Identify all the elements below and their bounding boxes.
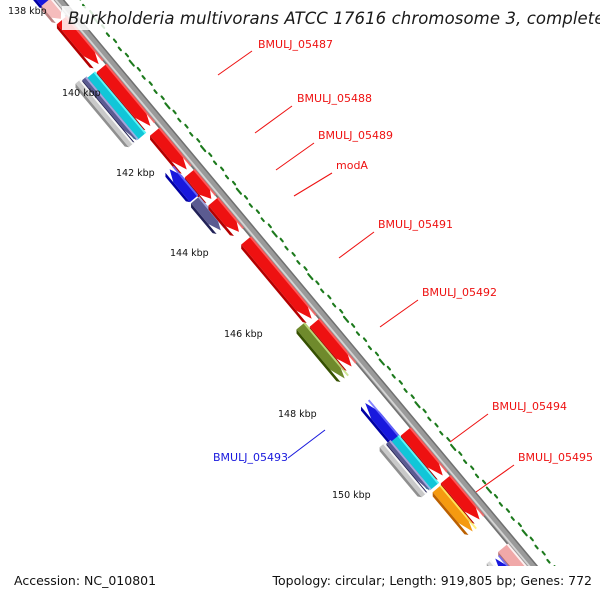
ruler-tickmark bbox=[226, 176, 228, 179]
ruler-label-148kbp: 148 kbp bbox=[278, 409, 317, 420]
ruler-tickmark bbox=[435, 424, 437, 427]
ruler-tickmark bbox=[107, 33, 109, 36]
ruler-label-138kbp: 138 kbp bbox=[8, 6, 47, 17]
ruler-tickmark bbox=[376, 353, 378, 356]
genome-map-canvas[interactable]: 138 kbp140 kbp142 kbp144 kbp146 kbp148 k… bbox=[0, 0, 600, 600]
gene-label-BMULJ_05493[interactable]: BMULJ_05493 bbox=[213, 451, 288, 464]
ruler-tickmark bbox=[404, 389, 406, 392]
ruler-tickmark bbox=[344, 317, 348, 322]
ruler-tickmark bbox=[447, 438, 449, 441]
ruler-tickmark bbox=[269, 225, 271, 228]
ruler-tickmark bbox=[83, 5, 85, 8]
status-bar: Accession: NC_010801 Topology: circular;… bbox=[0, 566, 600, 600]
ruler-tickmark bbox=[543, 552, 545, 555]
ruler-tickmark bbox=[519, 523, 521, 526]
ruler-tickmark bbox=[547, 560, 549, 563]
gene-label-BMULJ_05488[interactable]: BMULJ_05488 bbox=[297, 92, 372, 105]
leader-line-BMULJ_05494 bbox=[450, 414, 488, 442]
accession-text: Accession: NC_010801 bbox=[14, 573, 156, 588]
gene-highlight bbox=[250, 237, 316, 315]
gene-label-BMULJ_05487[interactable]: BMULJ_05487 bbox=[258, 38, 333, 51]
ruler-tickmark bbox=[471, 466, 473, 469]
ruler-tickmark bbox=[352, 324, 354, 327]
genome-stats-text: Topology: circular; Length: 919,805 bp; … bbox=[273, 573, 593, 588]
leader-line-BMULJ_05489 bbox=[276, 143, 314, 170]
ruler-tickmark bbox=[364, 338, 366, 341]
ruler-tickmark bbox=[150, 82, 152, 85]
leader-line-BMULJ_05491 bbox=[339, 232, 374, 258]
ruler-tickmark bbox=[197, 139, 199, 142]
ruler-tickmark bbox=[214, 161, 216, 164]
ruler-tickmark bbox=[185, 125, 187, 128]
ruler-tickmark bbox=[512, 517, 514, 520]
ruler-tickmark bbox=[273, 231, 277, 236]
ruler-tickmark bbox=[316, 281, 318, 284]
ruler-tickmark bbox=[90, 11, 92, 14]
ruler-label-layer: 138 kbp140 kbp142 kbp144 kbp146 kbp148 k… bbox=[8, 6, 371, 501]
ruler-tickmark bbox=[531, 538, 533, 541]
ruler-tickmark bbox=[412, 395, 414, 398]
ruler-tickmark bbox=[138, 68, 140, 71]
ruler-tickmark bbox=[102, 25, 104, 28]
ruler-tickmark bbox=[162, 96, 164, 99]
ruler-tickmark bbox=[535, 546, 537, 549]
ruler-tickmark bbox=[369, 346, 371, 349]
ruler-tickmark bbox=[143, 76, 145, 79]
ruler-tickmark bbox=[380, 360, 384, 365]
ruler-tickmark bbox=[500, 503, 502, 506]
leader-line-BMULJ_05492 bbox=[380, 300, 418, 327]
ruler-tickmark bbox=[233, 182, 235, 185]
gene-body[interactable] bbox=[241, 236, 312, 319]
ruler-tickmark bbox=[304, 267, 306, 270]
ruler-tickmark bbox=[209, 153, 211, 156]
ruler-tickmark bbox=[487, 488, 491, 493]
gene-label-modA[interactable]: modA bbox=[336, 159, 368, 172]
ruler-tickmark bbox=[130, 61, 134, 66]
leader-line-BMULJ_05493 bbox=[288, 430, 325, 458]
ruler-tickmark bbox=[483, 481, 485, 484]
ruler-tickmark bbox=[178, 119, 180, 122]
ruler-tickmark bbox=[495, 495, 497, 498]
ruler-tickmark bbox=[221, 168, 223, 171]
ruler-tickmark bbox=[464, 460, 466, 463]
ruler-tickmark bbox=[165, 103, 169, 108]
ruler-tickmark bbox=[285, 247, 287, 250]
ruler-label-146kbp: 146 kbp bbox=[224, 329, 263, 340]
ruler-tickmark bbox=[476, 475, 478, 478]
ruler-tickmark bbox=[173, 111, 175, 114]
ruler-tickmark bbox=[388, 367, 390, 370]
ruler-tickmark bbox=[250, 204, 252, 207]
ruler-tickmark bbox=[340, 310, 342, 313]
leader-line-BMULJ_05495 bbox=[476, 465, 514, 492]
ruler-tickmark bbox=[293, 253, 295, 256]
ruler-tickmark bbox=[114, 40, 116, 43]
ruler-tickmark bbox=[523, 530, 527, 535]
ruler-tickmark bbox=[257, 210, 259, 213]
gene-label-BMULJ_05491[interactable]: BMULJ_05491 bbox=[378, 218, 453, 231]
ruler-tickmark bbox=[423, 410, 425, 413]
leader-line-modA bbox=[294, 173, 332, 196]
ruler-tickmark bbox=[190, 133, 192, 136]
ruler-tickmark bbox=[297, 261, 299, 264]
leader-line-BMULJ_05487 bbox=[218, 51, 252, 75]
ruler-tickmark bbox=[428, 418, 430, 421]
ruler-tickmark bbox=[262, 218, 264, 221]
gene-label-BMULJ_05489[interactable]: BMULJ_05489 bbox=[318, 129, 393, 142]
gene-label-BMULJ_05494[interactable]: BMULJ_05494 bbox=[492, 400, 567, 413]
ruler-tickmark bbox=[393, 375, 395, 378]
ruler-tickmark bbox=[400, 381, 402, 384]
ruler-label-142kbp: 142 kbp bbox=[116, 168, 155, 179]
ruler-tickmark bbox=[308, 274, 312, 279]
ruler-tickmark bbox=[321, 290, 323, 293]
genome-browser-window: 138 kbp140 kbp142 kbp144 kbp146 kbp148 k… bbox=[0, 0, 600, 600]
ruler-tickmark bbox=[94, 18, 98, 23]
ruler-tickmark bbox=[459, 452, 461, 455]
ruler-tickmark bbox=[357, 332, 359, 335]
gene-feature-BMULJ_05491[interactable] bbox=[241, 236, 316, 323]
gene-label-BMULJ_05492[interactable]: BMULJ_05492 bbox=[422, 286, 497, 299]
ruler-tickmark bbox=[119, 48, 121, 51]
ruler-tickmark bbox=[328, 296, 330, 299]
ruler-tickmark bbox=[415, 402, 419, 407]
gene-label-BMULJ_05495[interactable]: BMULJ_05495 bbox=[518, 451, 593, 464]
ruler-label-150kbp: 150 kbp bbox=[332, 490, 371, 501]
ruler-tickmark bbox=[126, 54, 128, 57]
ruler-label-144kbp: 144 kbp bbox=[170, 248, 209, 259]
ruler-tickmark bbox=[440, 432, 442, 435]
ruler-tickmark bbox=[451, 445, 455, 450]
ruler-tickmark bbox=[507, 509, 509, 512]
ruler-tickmark bbox=[154, 90, 156, 93]
ruler-label-140kbp: 140 kbp bbox=[62, 88, 101, 99]
leader-line-BMULJ_05488 bbox=[255, 106, 292, 133]
ruler-tickmark bbox=[333, 304, 335, 307]
ruler-tickmark bbox=[201, 146, 205, 151]
ruler-tickmark bbox=[245, 196, 247, 199]
ruler-tickmark bbox=[281, 239, 283, 242]
ruler-tickmark bbox=[237, 189, 241, 194]
